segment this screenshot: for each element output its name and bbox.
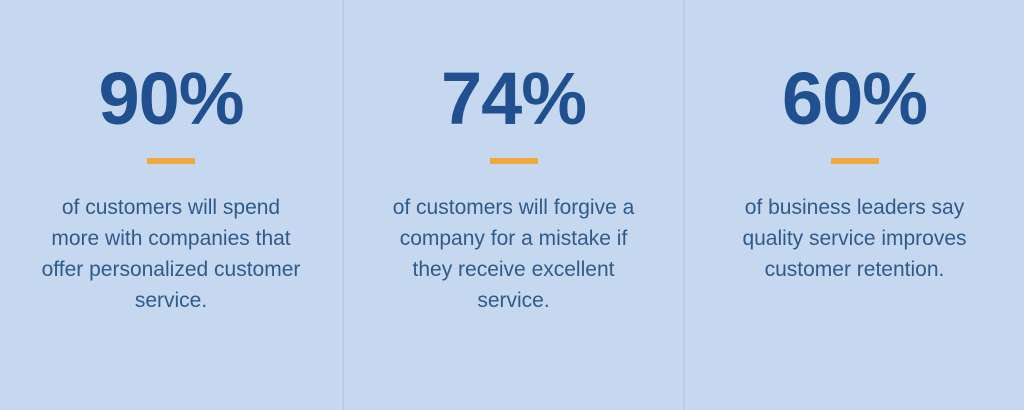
stat-description-3: of business leaders say quality service …: [720, 192, 990, 285]
stat-card-1-content: 90% of customers will spend more with co…: [0, 0, 342, 316]
accent-rule-3: [831, 158, 879, 164]
stat-card-1: 90% of customers will spend more with co…: [0, 0, 342, 410]
stat-card-2-content: 74% of customers will forgive a company …: [344, 0, 683, 316]
stat-card-3-content: 60% of business leaders say quality serv…: [685, 0, 1024, 285]
stat-card-2: 74% of customers will forgive a company …: [342, 0, 683, 410]
stat-number-1: 90%: [98, 62, 243, 136]
stat-number-3: 60%: [782, 62, 927, 136]
stats-banner: 90% of customers will spend more with co…: [0, 0, 1024, 410]
accent-rule-2: [490, 158, 538, 164]
stat-card-3: 60% of business leaders say quality serv…: [683, 0, 1024, 410]
stat-description-2: of customers will forgive a company for …: [384, 192, 644, 316]
stat-description-1: of customers will spend more with compan…: [41, 192, 301, 316]
stat-number-2: 74%: [441, 62, 586, 136]
accent-rule-1: [147, 158, 195, 164]
